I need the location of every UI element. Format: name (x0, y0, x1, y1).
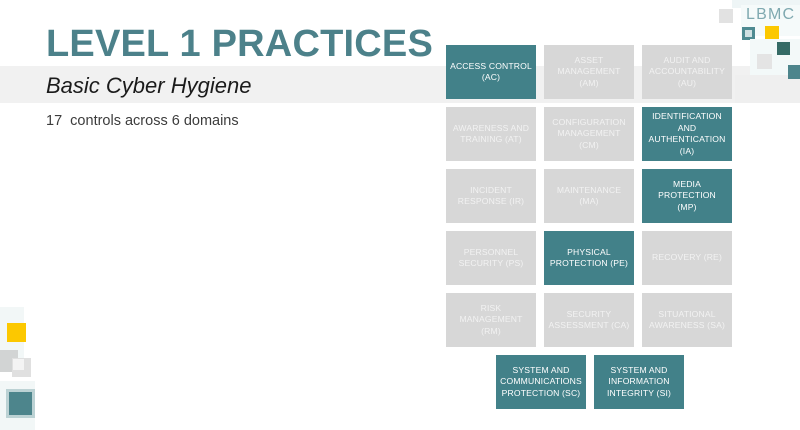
domain-cell[interactable]: CONFIGURATIONMANAGEMENT(CM) (544, 107, 634, 161)
domain-cell-label: SITUATIONALAWARENESS (SA) (649, 309, 725, 332)
domain-cell[interactable]: MAINTENANCE(MA) (544, 169, 634, 223)
domain-cell-label: ACCESS CONTROL(AC) (450, 61, 532, 84)
domain-cell-label: SECURITYASSESSMENT (CA) (549, 309, 630, 332)
domain-cell[interactable]: MEDIA PROTECTION(MP) (642, 169, 732, 223)
domain-cell-label: PHYSICALPROTECTION (PE) (550, 247, 628, 270)
domain-cell-label: AWARENESS ANDTRAINING (AT) (453, 123, 529, 146)
page-title: LEVEL 1 PRACTICES (46, 22, 433, 66)
domain-cell-label: AUDIT ANDACCOUNTABILITY(AU) (649, 55, 725, 90)
domain-grid-row: ACCESS CONTROL(AC)ASSETMANAGEMENT(AM)AUD… (446, 45, 734, 99)
domain-cell[interactable]: ACCESS CONTROL(AC) (446, 45, 536, 99)
domain-cell[interactable]: PHYSICALPROTECTION (PE) (544, 231, 634, 285)
domain-grid-row: PERSONNELSECURITY (PS)PHYSICALPROTECTION… (446, 231, 734, 285)
logo-square-teal-icon (788, 65, 800, 79)
slide-canvas: LEVEL 1 PRACTICES Basic Cyber Hygiene 17… (0, 0, 800, 430)
controls-summary-text: 17 controls across 6 domains (46, 111, 239, 131)
deco-square-teal-ring-icon (6, 389, 35, 418)
domain-grid-row: INCIDENTRESPONSE (IR)MAINTENANCE(MA)MEDI… (446, 169, 734, 223)
domain-cell-label: INCIDENTRESPONSE (IR) (458, 185, 524, 208)
domain-cell[interactable]: ASSETMANAGEMENT(AM) (544, 45, 634, 99)
domain-cell[interactable]: RECOVERY (RE) (642, 231, 732, 285)
logo-square-yellow-icon (765, 26, 779, 40)
domain-cell-label: IDENTIFICATIONANDAUTHENTICATION(IA) (649, 111, 726, 157)
domain-cell[interactable]: PERSONNELSECURITY (PS) (446, 231, 536, 285)
domain-cell[interactable]: SYSTEM ANDCOMMUNICATIONSPROTECTION (SC) (496, 355, 586, 409)
domain-grid: ACCESS CONTROL(AC)ASSETMANAGEMENT(AM)AUD… (446, 45, 734, 417)
domain-cell[interactable]: SYSTEM ANDINFORMATIONINTEGRITY (SI) (594, 355, 684, 409)
domain-cell-label: RECOVERY (RE) (652, 252, 722, 264)
domain-cell-label: RISK MANAGEMENT(RM) (449, 303, 533, 338)
decorative-cluster-bottom-left (0, 295, 40, 430)
domain-cell-label: SYSTEM ANDCOMMUNICATIONSPROTECTION (SC) (500, 365, 582, 400)
domain-grid-row: SYSTEM ANDCOMMUNICATIONSPROTECTION (SC)S… (446, 355, 734, 409)
logo-square-dark-teal-icon (777, 42, 790, 55)
page-subtitle: Basic Cyber Hygiene (46, 72, 251, 99)
domain-cell-label: SYSTEM ANDINFORMATIONINTEGRITY (SI) (607, 365, 671, 400)
domain-cell-label: ASSETMANAGEMENT(AM) (557, 55, 620, 90)
domain-cell-label: PERSONNELSECURITY (PS) (459, 247, 524, 270)
logo-square-gray-light-icon (719, 9, 733, 23)
domain-cell[interactable]: IDENTIFICATIONANDAUTHENTICATION(IA) (642, 107, 732, 161)
domain-cell-label: MAINTENANCE(MA) (557, 185, 621, 208)
domain-cell[interactable]: SECURITYASSESSMENT (CA) (544, 293, 634, 347)
domain-cell-label: CONFIGURATIONMANAGEMENT(CM) (552, 117, 625, 152)
domain-grid-row: RISK MANAGEMENT(RM)SECURITYASSESSMENT (C… (446, 293, 734, 347)
deco-square-yellow-icon (7, 323, 26, 342)
logo-wordmark: LBMC (746, 6, 795, 24)
domain-cell[interactable]: RISK MANAGEMENT(RM) (446, 293, 536, 347)
deco-square-gray-ring-icon (12, 358, 31, 377)
domain-cell[interactable]: AWARENESS ANDTRAINING (AT) (446, 107, 536, 161)
domain-cell-label: MEDIA PROTECTION(MP) (645, 179, 729, 214)
domain-cell[interactable]: AUDIT ANDACCOUNTABILITY(AU) (642, 45, 732, 99)
logo-square-gray-icon (757, 54, 772, 69)
domain-cell[interactable]: SITUATIONALAWARENESS (SA) (642, 293, 732, 347)
domain-grid-row: AWARENESS ANDTRAINING (AT)CONFIGURATIONM… (446, 107, 734, 161)
domain-cell[interactable]: INCIDENTRESPONSE (IR) (446, 169, 536, 223)
